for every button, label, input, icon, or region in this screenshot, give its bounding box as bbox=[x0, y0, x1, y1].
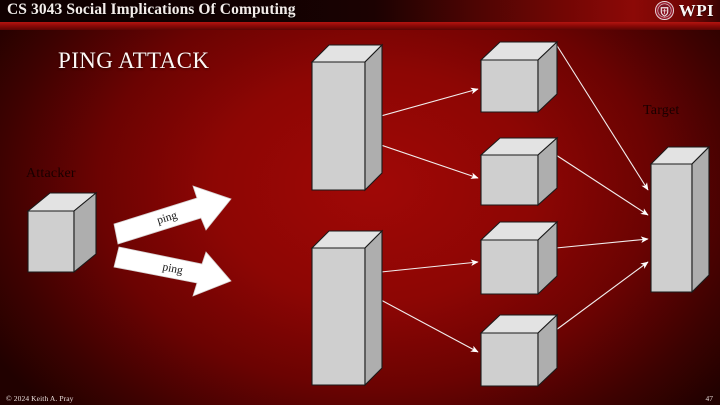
reflector-tower-1 bbox=[312, 45, 382, 190]
connector-arrows-towers-to-cubes bbox=[381, 89, 478, 352]
ping-arrow-upper: ping bbox=[114, 186, 231, 244]
connector-tower1-cube1 bbox=[381, 89, 478, 116]
copyright-notice: © 2024 Keith A. Pray bbox=[6, 394, 74, 403]
wpi-wordmark: WPI bbox=[679, 1, 714, 20]
slide-canvas: CS 3043 Social Implications Of Computing… bbox=[0, 0, 720, 405]
connector-cube1-target bbox=[556, 44, 648, 190]
target-tower bbox=[651, 147, 709, 292]
header-accent-stripe bbox=[0, 22, 720, 30]
connector-cube2-target bbox=[556, 155, 648, 215]
connector-tower2-cube4 bbox=[381, 300, 478, 352]
reflector-tower-2 bbox=[312, 231, 382, 385]
connector-cube3-target bbox=[556, 239, 648, 248]
attacker-cube bbox=[28, 190, 104, 272]
connector-arrows-cubes-to-target bbox=[556, 44, 648, 330]
slide-footer: © 2024 Keith A. Pray 47 bbox=[0, 389, 720, 405]
ping-arrow-lower: ping bbox=[114, 247, 231, 296]
connector-tower2-cube3 bbox=[381, 262, 478, 272]
slide-header: CS 3043 Social Implications Of Computing… bbox=[0, 0, 720, 30]
connector-cube4-target bbox=[556, 262, 648, 330]
amplifier-cube-2 bbox=[481, 138, 557, 205]
amplifier-cube-1 bbox=[481, 42, 557, 112]
amplifier-cube-3 bbox=[481, 222, 557, 294]
wpi-seal-icon bbox=[655, 1, 674, 20]
ping-attack-diagram: ping ping bbox=[0, 0, 720, 405]
amplifier-cube-4 bbox=[481, 315, 557, 386]
connector-tower1-cube2 bbox=[381, 145, 478, 178]
course-title: CS 3043 Social Implications Of Computing bbox=[7, 1, 296, 19]
slide-number: 47 bbox=[706, 394, 714, 403]
wpi-brand: WPI bbox=[655, 1, 714, 20]
